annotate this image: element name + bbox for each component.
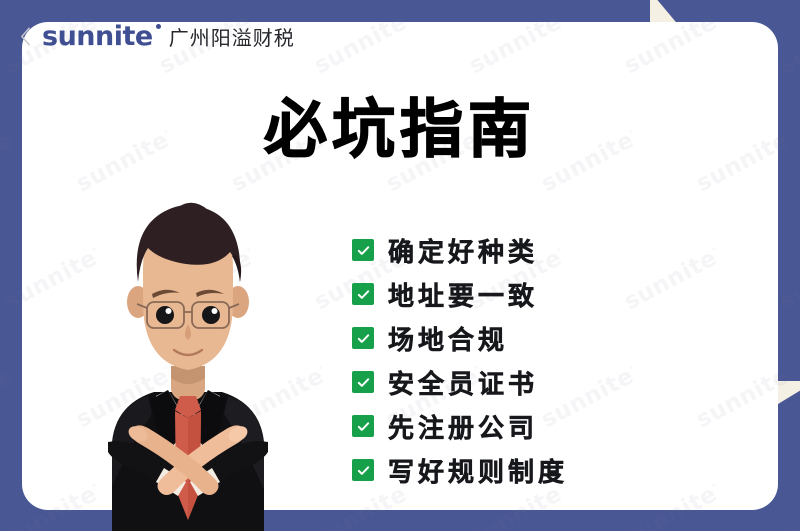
checklist-item[interactable]: 安全员证书 (352, 360, 568, 404)
businessman-illustration (68, 190, 308, 531)
checklist-item[interactable]: 场地合规 (352, 316, 568, 360)
back-chevron-icon[interactable] (16, 23, 34, 49)
logo-dot-icon (156, 24, 161, 29)
logo-text: sunnite (42, 21, 153, 52)
check-mark-icon (352, 327, 374, 349)
check-mark-icon (352, 283, 374, 305)
page-title: 必坑指南 (0, 98, 800, 161)
checklist-item[interactable]: 写好规则制度 (352, 448, 568, 492)
check-mark-icon (352, 239, 374, 261)
check-mark-icon (352, 371, 374, 393)
sunnite-logo: sunnite (42, 23, 153, 50)
checklist-item-label: 写好规则制度 (388, 452, 568, 489)
checklist: 确定好种类 地址要一致 场地合规 安全员证书 先注册公司 (352, 228, 568, 492)
checklist-item-label: 确定好种类 (388, 232, 538, 269)
checklist-item-label: 先注册公司 (388, 408, 538, 445)
check-mark-icon (352, 415, 374, 437)
checklist-item[interactable]: 先注册公司 (352, 404, 568, 448)
header-bar: sunnite 广州阳溢财税 (16, 16, 295, 56)
checklist-item[interactable]: 确定好种类 (352, 228, 568, 272)
poster-canvas: sunnite 广州阳溢财税 必坑指南 确定好种类 地址要一致 场地合规 (0, 0, 800, 531)
checklist-item-label: 地址要一致 (388, 276, 538, 313)
brand-name-label: 广州阳溢财税 (169, 22, 295, 51)
checklist-item[interactable]: 地址要一致 (352, 272, 568, 316)
check-mark-icon (352, 459, 374, 481)
checklist-item-label: 安全员证书 (388, 364, 538, 401)
checklist-item-label: 场地合规 (388, 320, 508, 357)
